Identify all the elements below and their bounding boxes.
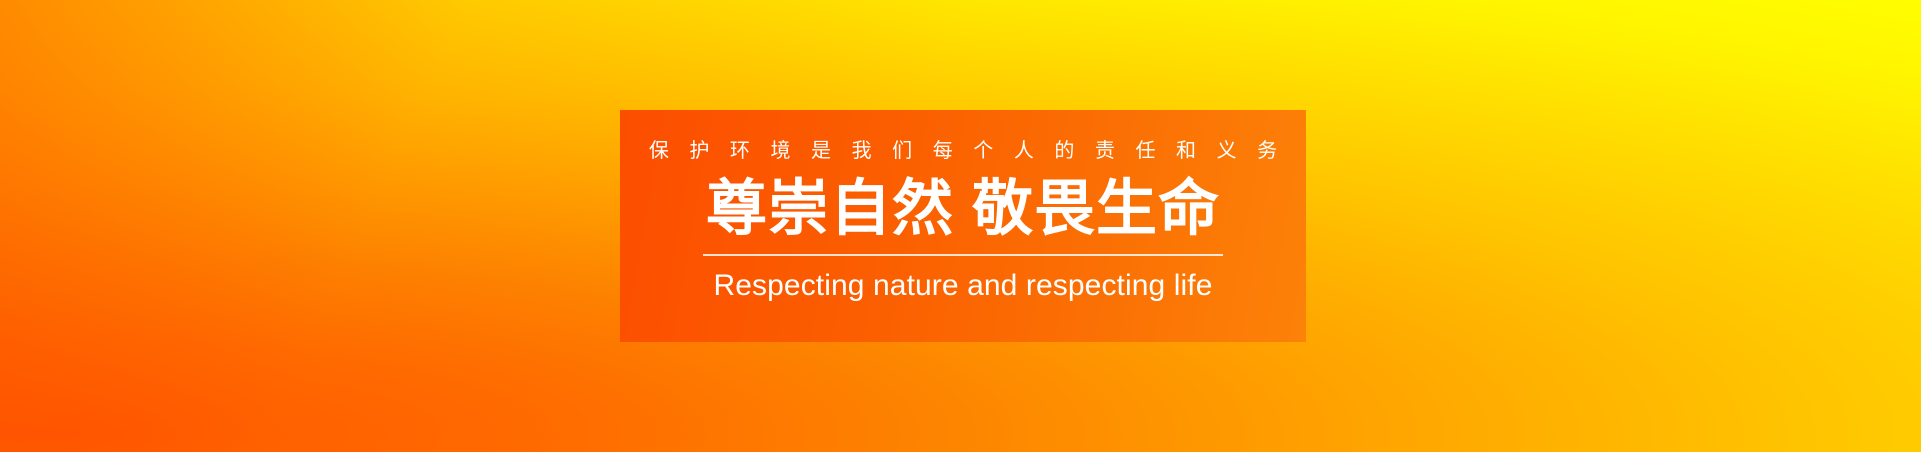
environment-slogan-banner: 保 护 环 境 是 我 们 每 个 人 的 责 任 和 义 务 尊崇自然 敬畏生… xyxy=(0,0,1921,452)
slogan-panel: 保 护 环 境 是 我 们 每 个 人 的 责 任 和 义 务 尊崇自然 敬畏生… xyxy=(620,110,1306,342)
slogan-headline-text: 尊崇自然 敬畏生命 xyxy=(706,177,1220,240)
slogan-kicker-text: 保 护 环 境 是 我 们 每 个 人 的 责 任 和 义 务 xyxy=(641,141,1284,161)
slogan-divider xyxy=(703,254,1223,256)
slogan-subline-text: Respecting nature and respecting life xyxy=(713,270,1212,302)
